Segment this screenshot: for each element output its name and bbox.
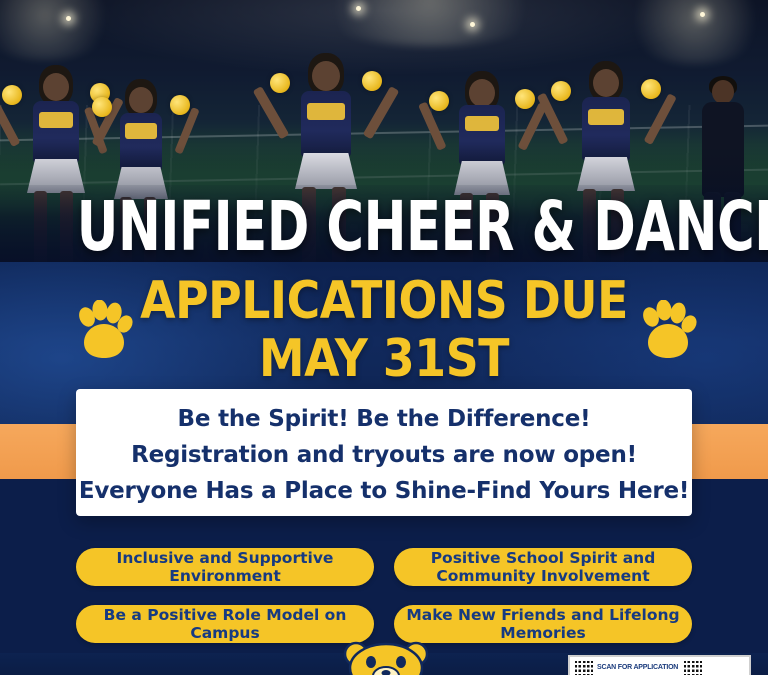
bear-mascot-icon	[340, 640, 432, 675]
benefit-pill: Be a Positive Role Model on Campus	[76, 605, 374, 643]
pom-pom-icon	[515, 89, 535, 109]
callout-line-2: Registration and tryouts are now open!	[76, 437, 692, 473]
poster-flyer: UNIFIED CHEER & DANCE APPLICATIONS DUE M…	[0, 0, 768, 675]
qr-code-icon[interactable]	[573, 658, 593, 675]
pom-pom-icon	[641, 79, 661, 99]
stadium-light-glow	[300, 0, 560, 46]
callout-card: Be the Spirit! Be the Difference! Regist…	[76, 389, 692, 516]
page-title: UNIFIED CHEER & DANCE	[77, 189, 691, 266]
deadline-line-2: MAY 31ST	[46, 330, 722, 388]
pom-pom-icon	[2, 85, 22, 105]
benefit-pill: Positive School Spirit and Community Inv…	[394, 548, 692, 586]
pom-pom-icon	[551, 81, 571, 101]
pom-pom-icon	[429, 91, 449, 111]
pom-pom-icon	[362, 71, 382, 91]
pom-pom-icon	[92, 97, 112, 117]
benefit-pill: Inclusive and Supportive Environment	[76, 548, 374, 586]
deadline-line-1: APPLICATIONS DUE	[46, 272, 722, 330]
callout-line-1: Be the Spirit! Be the Difference!	[76, 401, 692, 437]
stadium-light-glow	[0, 0, 120, 60]
qr-caption: SCAN FOR APPLICATION	[597, 664, 678, 672]
stadium-light-icon	[66, 16, 71, 21]
stadium-light-icon	[356, 6, 361, 11]
stadium-light-icon	[470, 22, 475, 27]
stadium-light-icon	[700, 12, 705, 17]
qr-code-banner[interactable]: SCAN FOR APPLICATION	[568, 655, 751, 675]
deadline-heading: APPLICATIONS DUE MAY 31ST	[46, 272, 722, 388]
pom-pom-icon	[170, 95, 190, 115]
callout-line-3: Everyone Has a Place to Shine-Find Yours…	[76, 473, 692, 509]
qr-code-icon[interactable]	[682, 658, 702, 675]
benefits-list: Inclusive and Supportive Environment Pos…	[0, 548, 768, 653]
benefit-pill: Make New Friends and Lifelong Memories	[394, 605, 692, 643]
stadium-light-glow	[620, 0, 768, 64]
pom-pom-icon	[270, 73, 290, 93]
